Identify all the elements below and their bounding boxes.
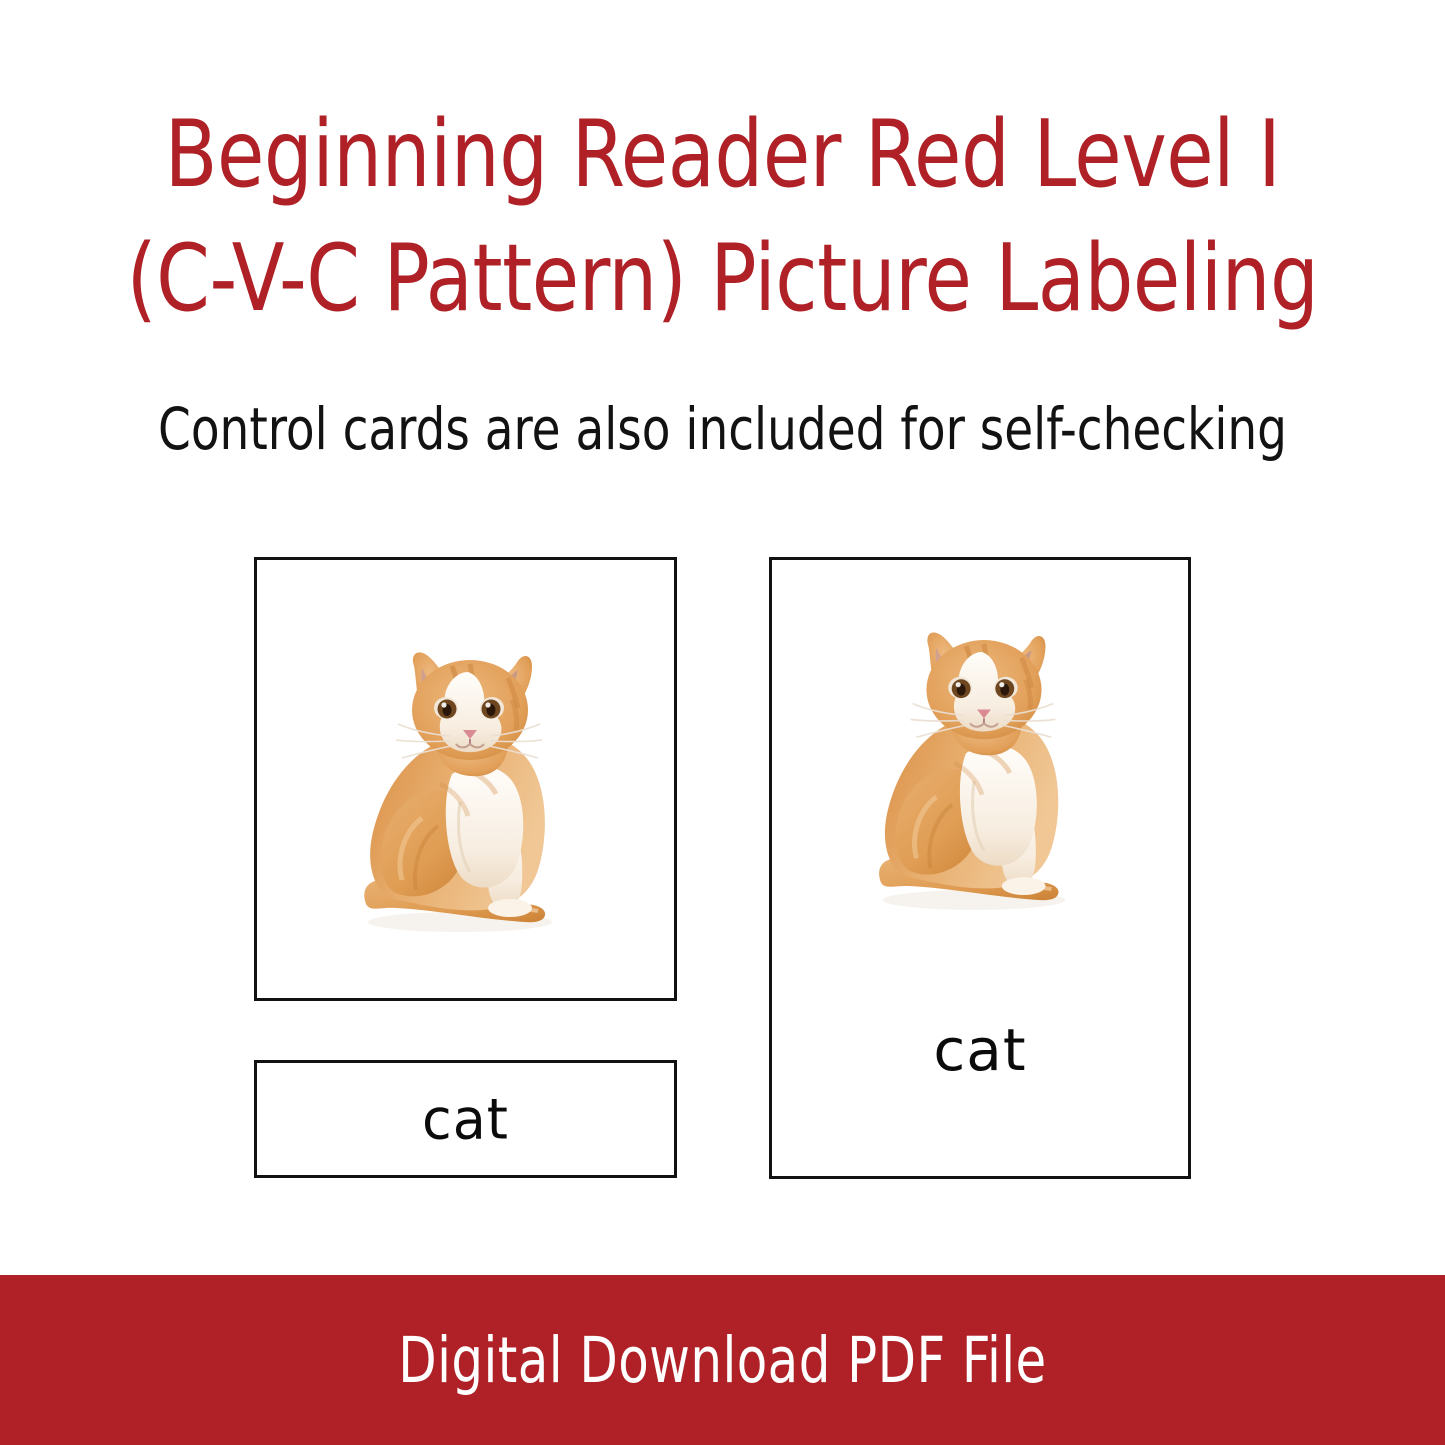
product-listing-image: Beginning Reader Red Level I (C-V-C Patt… (0, 0, 1445, 1445)
control-card: cat (769, 557, 1191, 1179)
word-card-label: cat (422, 1086, 509, 1152)
cat-photo-icon (340, 642, 592, 942)
footer-banner-text: Digital Download PDF File (398, 1324, 1046, 1397)
cat-photo-icon (855, 622, 1105, 920)
word-card: cat (254, 1060, 677, 1178)
picture-card (254, 557, 677, 1001)
footer-banner: Digital Download PDF File (0, 1275, 1445, 1445)
control-card-label: cat (772, 1016, 1188, 1084)
cards-area: cat (0, 0, 1445, 1445)
